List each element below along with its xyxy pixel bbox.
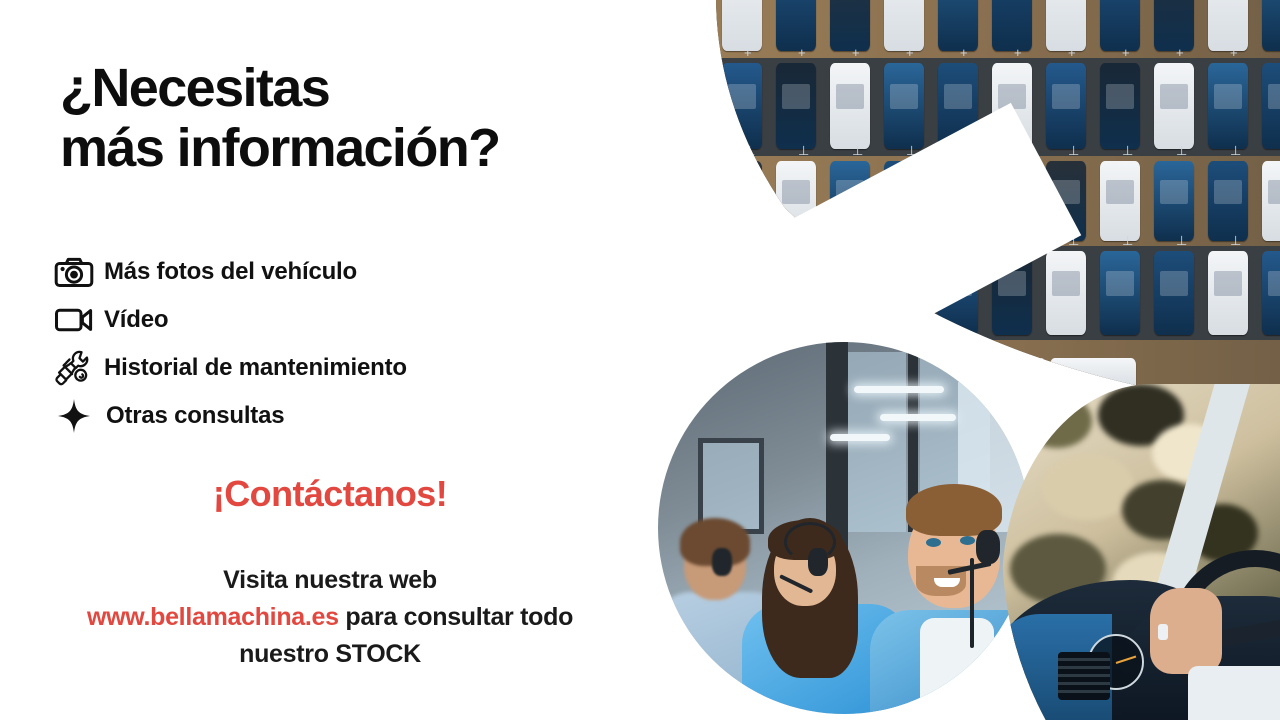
photo-collage: +++++++++++++⊥⊥⊥⊥⊥⊥⊥⊥⊥⊥⊥⊥⊥⊥⊥⊥⊥⊥⊥⊥⊥⊥⊥⊥⊥⊥: [640, 0, 1280, 720]
website-block: Visita nuestra web www.bellamachina.es p…: [0, 562, 660, 673]
list-item-label: Más fotos del vehículo: [104, 258, 357, 286]
visit-web-label: Visita nuestra web: [0, 562, 660, 599]
callcenter-photo: [658, 342, 1030, 714]
list-item-label: Vídeo: [104, 306, 168, 334]
feature-list: Más fotos del vehículo Vídeo: [52, 248, 612, 440]
list-item: Más fotos del vehículo: [52, 248, 612, 296]
list-item: Vídeo: [52, 296, 612, 344]
contact-cta[interactable]: ¡Contáctanos!: [0, 473, 660, 515]
stock-label: nuestro STOCK: [0, 636, 660, 673]
camera-icon: [52, 256, 96, 288]
driving-photo: [1002, 384, 1280, 720]
wrench-maintenance-icon: [52, 349, 96, 387]
list-item: Otras consultas: [52, 392, 612, 440]
website-line: www.bellamachina.es para consultar todo: [0, 599, 660, 636]
list-item-label: Historial de mantenimiento: [104, 354, 407, 382]
list-item-label: Otras consultas: [106, 402, 284, 430]
sparkle-icon: [52, 398, 96, 434]
website-tail: para consultar todo: [339, 603, 573, 631]
air-vent: [1058, 652, 1110, 700]
list-item: Historial de mantenimiento: [52, 344, 612, 392]
page-title: ¿Necesitas más información?: [60, 58, 500, 179]
website-url[interactable]: www.bellamachina.es: [87, 603, 339, 631]
promo-banner: +++++++++++++⊥⊥⊥⊥⊥⊥⊥⊥⊥⊥⊥⊥⊥⊥⊥⊥⊥⊥⊥⊥⊥⊥⊥⊥⊥⊥: [0, 0, 1280, 720]
video-camera-icon: [52, 305, 96, 335]
